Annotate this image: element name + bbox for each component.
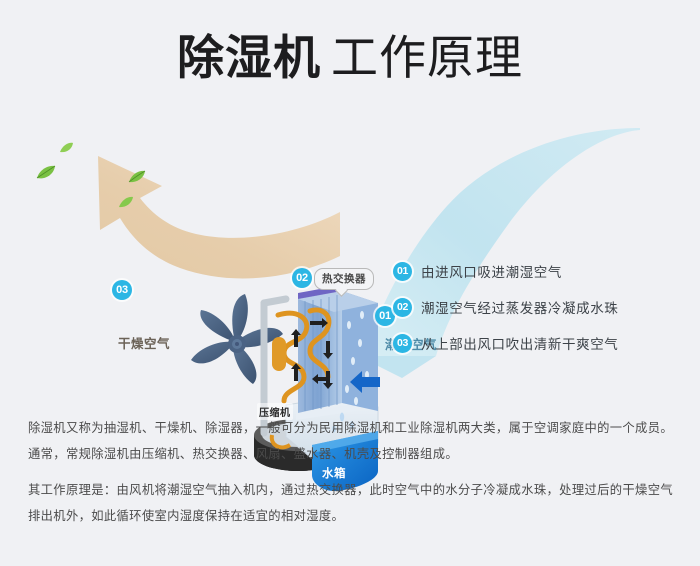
steps-list: 01 由进风口吸进潮湿空气 02 潮湿空气经过蒸发器冷凝成水珠 03 从上部出风… xyxy=(393,253,693,361)
leaf-icon xyxy=(36,165,56,181)
leaf-icon xyxy=(128,170,146,184)
step-text: 潮湿空气经过蒸发器冷凝成水珠 xyxy=(421,297,618,317)
step-item: 01 由进风口吸进潮湿空气 xyxy=(393,253,693,289)
paragraph-1-line-1: 除湿机又称为抽湿机、干燥机、除湿器，一般可分为民用除湿机和工业除湿机两大类，属于… xyxy=(28,418,678,438)
page-title-bold: 除湿机 xyxy=(177,31,321,84)
leaf-icon xyxy=(60,142,74,154)
step-text: 从上部出风口吹出清新干爽空气 xyxy=(421,333,618,353)
step-badge: 03 xyxy=(393,334,412,353)
step-text: 由进风口吸进潮湿空气 xyxy=(421,261,562,281)
page-title-thin: 工作原理 xyxy=(331,31,523,84)
paragraph-1: 除湿机又称为抽湿机、干燥机、除湿器，一般可分为民用除湿机和工业除湿机两大类，属于… xyxy=(28,418,678,464)
diagram-badge-03: 03 xyxy=(112,280,132,300)
paragraph-2-line-2: 排出机外，如此循环使室内湿度保持在适宜的相对湿度。 xyxy=(28,506,678,526)
page-title: 除湿机工作原理 xyxy=(0,32,700,84)
diagram-badge-01: 01 xyxy=(375,306,395,326)
step-item: 03 从上部出风口吹出清新干爽空气 xyxy=(393,325,693,361)
body-copy: 除湿机又称为抽湿机、干燥机、除湿器，一般可分为民用除湿机和工业除湿机两大类，属于… xyxy=(28,418,678,542)
paragraph-2: 其工作原理是：由风机将潮湿空气抽入机内，通过热交换器，此时空气中的水分子冷凝成水… xyxy=(28,480,678,526)
step-item: 02 潮湿空气经过蒸发器冷凝成水珠 xyxy=(393,289,693,325)
step-badge: 01 xyxy=(393,262,412,281)
heat-exchanger-callout: 热交换器 xyxy=(314,268,374,290)
paragraph-1-line-2: 通常，常规除湿机由压缩机、热交换器、风扇、盛水器、机壳及控制器组成。 xyxy=(28,444,678,464)
leaf-icon xyxy=(118,196,134,209)
paragraph-2-line-1: 其工作原理是：由风机将潮湿空气抽入机内，通过热交换器，此时空气中的水分子冷凝成水… xyxy=(28,480,678,500)
diagram-badge-02: 02 xyxy=(292,268,312,288)
dry-air-label: 干燥空气 xyxy=(118,333,170,352)
infographic-page: 除湿机工作原理 xyxy=(0,0,700,566)
step-badge: 02 xyxy=(393,298,412,317)
